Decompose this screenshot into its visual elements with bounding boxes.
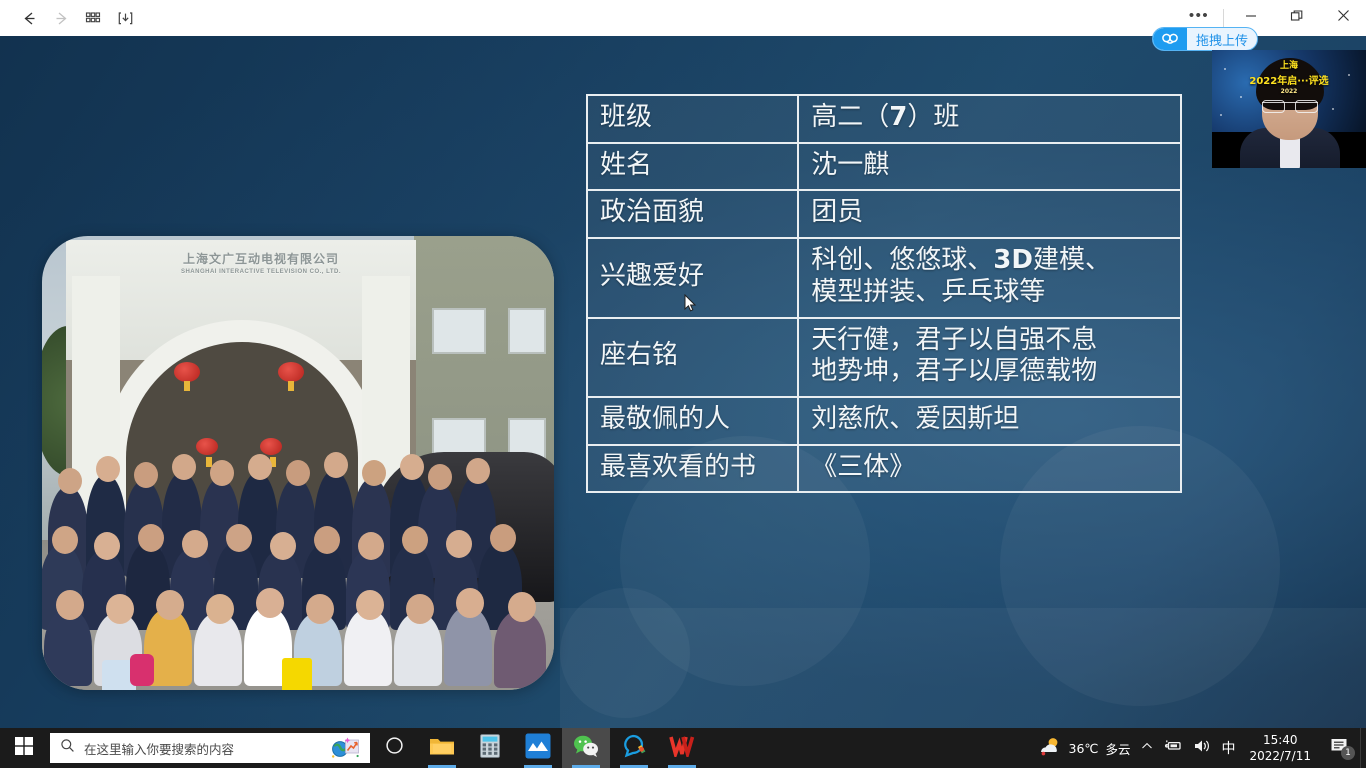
network-plug-icon [1164, 738, 1183, 758]
video-overlay-line1: 上海 [1212, 58, 1366, 71]
task-view-button[interactable] [370, 728, 418, 768]
weather-condition-label: 多云 [1105, 739, 1130, 758]
grid-apps-icon [85, 10, 101, 26]
temperature-label: 36℃ [1069, 741, 1099, 756]
video-participant-thumbnail[interactable]: 上海 2022年启···评选 2022 [1212, 50, 1366, 168]
clock-date: 2022/7/11 [1249, 748, 1311, 764]
calculator-icon [480, 734, 500, 763]
hobby-line1-post: 建模、 [1033, 245, 1111, 275]
cortana-globe-chart-icon[interactable] [330, 735, 360, 761]
file-explorer-button[interactable] [418, 728, 466, 768]
toolbar-divider [1223, 9, 1224, 27]
table-value-cell: 高二（7）班 [798, 95, 1181, 143]
lantern-2 [278, 362, 304, 382]
weather-widget[interactable]: 36℃ 多云 [1024, 728, 1136, 768]
table-row: 最喜欢看的书 《三体》 [587, 445, 1181, 493]
photo-sign-cn: 上海文广互动电视有限公司 [183, 252, 339, 266]
speaker-icon [1193, 738, 1211, 759]
folder-icon [429, 735, 455, 762]
minimize-icon [1245, 9, 1257, 27]
sun-cloud-icon [1038, 736, 1062, 761]
desktop-root: ••• [0, 0, 1366, 768]
class-group-photo: 上海文广互动电视有限公司 SHANGHAI INTERACTIVE TELEVI… [42, 236, 554, 690]
photo-bag-yellow [282, 658, 312, 690]
hobby-line1-pre: 科创、悠悠球、 [811, 245, 993, 275]
volume-button[interactable] [1188, 728, 1216, 768]
restore-window-icon [1290, 9, 1304, 28]
drag-upload-badge[interactable]: 拖拽上传 [1152, 27, 1258, 51]
search-icon [60, 738, 75, 758]
taskbar-search-input[interactable]: 在这里输入你要搜索的内容 [50, 733, 370, 763]
lantern-1 [174, 362, 200, 382]
table-value-cell: 《三体》 [798, 445, 1181, 493]
table-row: 座右铭 天行健，君子以自强不息 地势坤，君子以厚德载物 [587, 318, 1181, 397]
table-key-cell: 兴趣爱好 [587, 238, 798, 317]
media-app-button[interactable] [514, 728, 562, 768]
forward-arrow-icon [53, 10, 70, 27]
video-overlay-line3: 2022 [1212, 88, 1366, 95]
class-value-pre: 高二（ [811, 102, 889, 132]
wps-office-button[interactable] [658, 728, 706, 768]
blue-mountain-icon [525, 733, 551, 764]
table-row: 班级 高二（7）班 [587, 95, 1181, 143]
hobby-3d-bold: 3D [993, 245, 1033, 275]
photo-bag-pink [130, 654, 154, 686]
presentation-slide[interactable]: 上海文广互动电视有限公司 SHANGHAI INTERACTIVE TELEVI… [0, 36, 1366, 728]
start-button[interactable] [0, 728, 48, 768]
table-key-cell: 最喜欢看的书 [587, 445, 798, 493]
photo-building-sign: 上海文广互动电视有限公司 SHANGHAI INTERACTIVE TELEVI… [136, 250, 386, 275]
class-value-number: 7 [889, 102, 907, 132]
cloud-base-band [560, 608, 1366, 728]
wechat-button[interactable] [562, 728, 610, 768]
motto-line1: 天行健，君子以自强不息 [811, 325, 1097, 355]
maximize-button[interactable] [1274, 0, 1320, 36]
table-value-cell: 沈一麒 [798, 143, 1181, 191]
chevron-up-icon [1140, 739, 1154, 758]
student-info-table: 班级 高二（7）班 姓名 沈一麒 政治面貌 团员 兴趣爱好 科创、悠悠球、3D建… [586, 94, 1182, 493]
motto-line2: 地势坤，君子以厚德载物 [811, 356, 1097, 386]
clock-widget[interactable]: 15:40 2022/7/11 [1240, 728, 1320, 768]
qq-chat-icon [621, 734, 647, 763]
close-button[interactable] [1320, 0, 1366, 36]
cloud-upload-icon [1153, 28, 1187, 50]
table-row: 姓名 沈一麒 [587, 143, 1181, 191]
photo-sign-en: SHANGHAI INTERACTIVE TELEVISION CO., LTD… [136, 269, 386, 275]
qq-button[interactable] [610, 728, 658, 768]
table-row: 最敬佩的人 刘慈欣、爱因斯坦 [587, 397, 1181, 445]
toolbar-left-group [0, 4, 140, 32]
show-hidden-icons-button[interactable] [1135, 728, 1159, 768]
forward-button[interactable] [46, 4, 76, 32]
back-button[interactable] [14, 4, 44, 32]
network-button[interactable] [1159, 728, 1188, 768]
download-icon [117, 10, 134, 27]
calculator-button[interactable] [466, 728, 514, 768]
video-overlay-line2: 2022年启···评选 [1212, 72, 1366, 87]
windows-start-icon [14, 736, 34, 761]
class-value-post: ）班 [907, 102, 959, 132]
table-row: 兴趣爱好 科创、悠悠球、3D建模、 模型拼装、乒乓球等 [587, 238, 1181, 317]
show-desktop-button[interactable] [1360, 728, 1366, 768]
download-button[interactable] [110, 4, 140, 32]
close-icon [1337, 9, 1350, 27]
apps-grid-button[interactable] [78, 4, 108, 32]
search-placeholder: 在这里输入你要搜索的内容 [84, 739, 234, 758]
table-key-cell: 姓名 [587, 143, 798, 191]
back-arrow-icon [21, 10, 38, 27]
drag-upload-label: 拖拽上传 [1187, 30, 1257, 49]
ime-indicator[interactable]: 中 [1216, 728, 1240, 768]
table-key-cell: 班级 [587, 95, 798, 143]
notification-count-badge: 1 [1341, 746, 1355, 760]
notification-center-button[interactable]: 1 [1320, 728, 1360, 768]
hobby-line2: 模型拼装、乒乓球等 [811, 277, 1045, 307]
task-view-circle-icon [385, 736, 404, 760]
table-key-cell: 政治面貌 [587, 190, 798, 238]
table-value-cell: 团员 [798, 190, 1181, 238]
system-tray: 36℃ 多云 [1024, 728, 1366, 768]
table-value-cell: 天行健，君子以自强不息 地势坤，君子以厚德载物 [798, 318, 1181, 397]
windows-taskbar: 在这里输入你要搜索的内容 [0, 728, 1366, 768]
wps-w-icon [669, 735, 695, 762]
wechat-icon [573, 734, 599, 763]
clock-time: 15:40 [1263, 732, 1298, 748]
ime-label: 中 [1221, 738, 1235, 758]
table-value-cell: 刘慈欣、爱因斯坦 [798, 397, 1181, 445]
table-value-cell: 科创、悠悠球、3D建模、 模型拼装、乒乓球等 [798, 238, 1181, 317]
photo-students-crowd [42, 432, 554, 690]
table-row: 政治面貌 团员 [587, 190, 1181, 238]
table-key-cell: 座右铭 [587, 318, 798, 397]
table-key-cell: 最敬佩的人 [587, 397, 798, 445]
